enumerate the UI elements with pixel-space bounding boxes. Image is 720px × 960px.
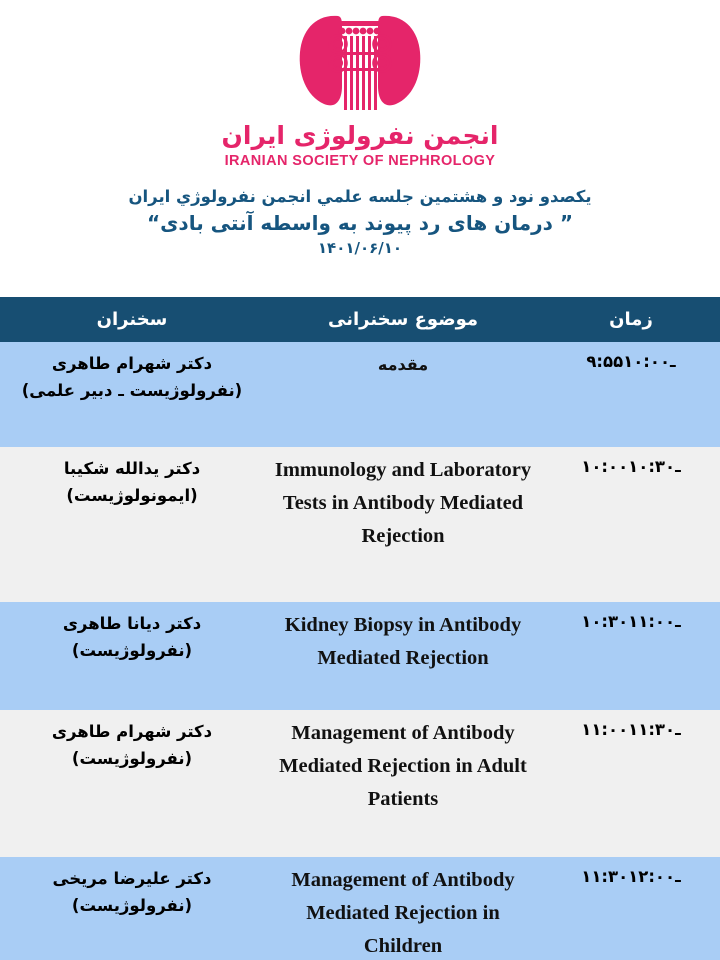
- cell-topic: Kidney Biopsy in Antibody Mediated Rejec…: [264, 602, 542, 710]
- table-row: ۱۰:۰۰ـ۱۰:۳۰ Immunology and Laboratory Te…: [0, 447, 720, 602]
- cell-topic: Immunology and Laboratory Tests in Antib…: [264, 447, 542, 602]
- speaker-role: (نفرولوژیست): [8, 638, 256, 665]
- cell-time: ۱۱:۳۰ـ۱۲:۰۰: [542, 857, 720, 960]
- speaker-name: دکتر دیانا طاهری: [8, 611, 256, 638]
- cell-time: ۱۰:۰۰ـ۱۰:۳۰: [542, 447, 720, 602]
- poster-page: انجمن نفرولوژی ایران IRANIAN SOCIETY OF …: [0, 0, 720, 960]
- cell-speaker: دکتر یدالله شکیبا (ایمونولوژیست): [0, 447, 264, 602]
- table-row: ۹:۵۵ـ۱۰:۰۰ مقدمه دکتر شهرام طاهری (نفرول…: [0, 342, 720, 447]
- schedule-table: زمان موضوع سخنرانی سخنران ۹:۵۵ـ۱۰:۰۰ مقد…: [0, 297, 720, 960]
- schedule-body: ۹:۵۵ـ۱۰:۰۰ مقدمه دکتر شهرام طاهری (نفرول…: [0, 342, 720, 960]
- cell-time: ۱۱:۰۰ـ۱۱:۳۰: [542, 710, 720, 857]
- society-name-en: IRANIAN SOCIETY OF NEPHROLOGY: [225, 153, 496, 169]
- society-name-fa: انجمن نفرولوژی ایران: [222, 123, 499, 148]
- column-header-time: زمان: [542, 297, 720, 342]
- cell-speaker: دکتر شهرام طاهری (نفرولوژیست ـ دبیر علمی…: [0, 342, 264, 447]
- speaker-name: دکتر شهرام طاهری: [8, 351, 256, 378]
- column-header-speaker: سخنران: [0, 297, 264, 342]
- session-subject-line: ” درمان های رد پیوند به واسطه آنتی بادی“: [0, 209, 720, 238]
- session-title-line: یکصدو نود و هشتمین جلسه علمي انجمن نفرول…: [0, 186, 720, 208]
- event-title-block: یکصدو نود و هشتمین جلسه علمي انجمن نفرول…: [0, 186, 720, 259]
- speaker-role: (ایمونولوژیست): [8, 483, 256, 510]
- society-logo: انجمن نفرولوژی ایران IRANIAN SOCIETY OF …: [0, 0, 720, 169]
- table-row: ۱۱:۰۰ـ۱۱:۳۰ Management of Antibody Media…: [0, 710, 720, 857]
- society-name-fa-wrap: انجمن نفرولوژی ایران: [222, 118, 499, 152]
- session-date: ۱۴۰۱/۰۶/۱۰: [0, 239, 720, 259]
- speaker-name: دکتر علیرضا مریخی: [8, 866, 256, 893]
- kidney-column-logo-icon: [280, 8, 440, 116]
- cell-speaker: دکتر شهرام طاهری (نفرولوژیست): [0, 710, 264, 857]
- cell-speaker: دکتر دیانا طاهری (نفرولوژیست): [0, 602, 264, 710]
- cell-topic: مقدمه: [264, 342, 542, 447]
- column-header-topic: موضوع سخنرانی: [264, 297, 542, 342]
- table-header-row: زمان موضوع سخنرانی سخنران: [0, 297, 720, 342]
- cell-time: ۱۰:۳۰ـ۱۱:۰۰: [542, 602, 720, 710]
- speaker-role: (نفرولوژیست): [8, 746, 256, 773]
- speaker-role: (نفرولوژیست): [8, 893, 256, 920]
- speaker-name: دکتر شهرام طاهری: [8, 719, 256, 746]
- cell-topic: Management of Antibody Mediated Rejectio…: [264, 857, 542, 960]
- table-row: ۱۰:۳۰ـ۱۱:۰۰ Kidney Biopsy in Antibody Me…: [0, 602, 720, 710]
- cell-time: ۹:۵۵ـ۱۰:۰۰: [542, 342, 720, 447]
- speaker-name: دکتر یدالله شکیبا: [8, 456, 256, 483]
- speaker-role: (نفرولوژیست ـ دبیر علمی): [8, 378, 256, 405]
- cell-topic: Management of Antibody Mediated Rejectio…: [264, 710, 542, 857]
- cell-speaker: دکتر علیرضا مریخی (نفرولوژیست): [0, 857, 264, 960]
- table-row: ۱۱:۳۰ـ۱۲:۰۰ Management of Antibody Media…: [0, 857, 720, 960]
